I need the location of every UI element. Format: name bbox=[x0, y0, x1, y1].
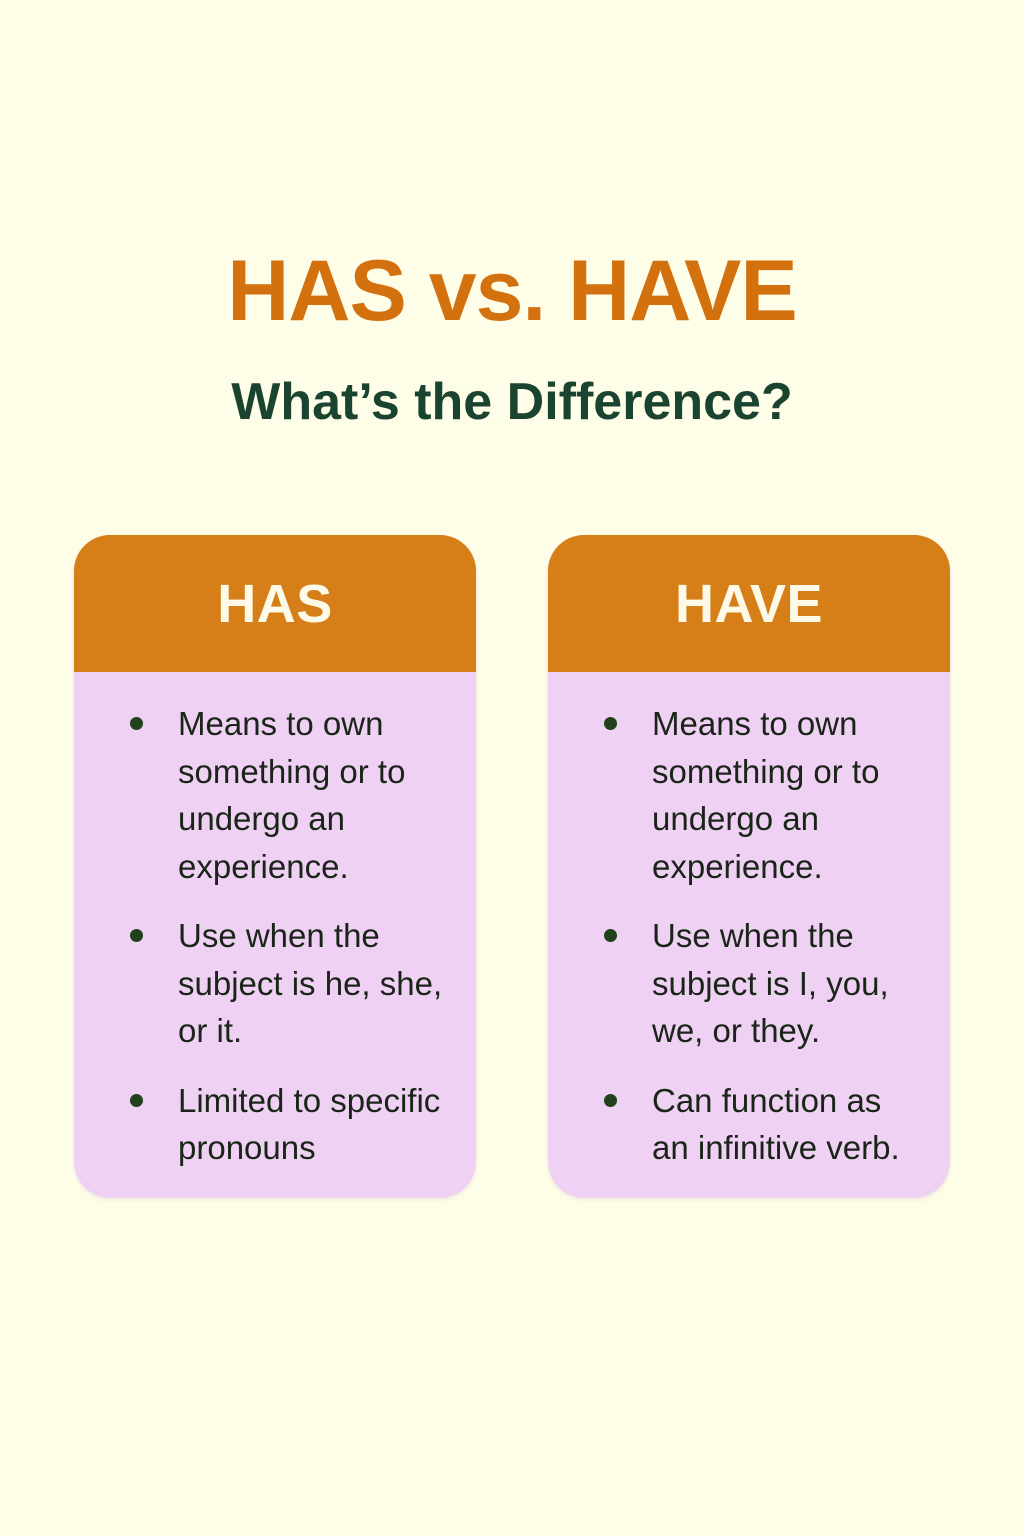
bullet-dot-icon bbox=[604, 717, 617, 730]
list-item: Use when the subject is he, she, or it. bbox=[120, 912, 446, 1055]
card-has: HAS Means to own something or to undergo… bbox=[74, 535, 476, 1198]
bullet-dot-icon bbox=[130, 929, 143, 942]
list-item: Means to own something or to undergo an … bbox=[594, 700, 920, 890]
list-item-text: Means to own something or to undergo an … bbox=[178, 705, 405, 885]
page-title: HAS vs. HAVE bbox=[0, 248, 1024, 334]
title-block: HAS vs. HAVE What’s the Difference? bbox=[0, 248, 1024, 428]
card-have-body: Means to own something or to undergo an … bbox=[548, 672, 950, 1198]
list-item-text: Limited to specific pronouns bbox=[178, 1082, 440, 1167]
comparison-cards: HAS Means to own something or to undergo… bbox=[74, 535, 950, 1198]
card-has-header: HAS bbox=[74, 535, 476, 672]
bullet-dot-icon bbox=[604, 929, 617, 942]
list-item: Means to own something or to undergo an … bbox=[120, 700, 446, 890]
bullet-dot-icon bbox=[130, 717, 143, 730]
list-item: Use when the subject is I, you, we, or t… bbox=[594, 912, 920, 1055]
card-has-body: Means to own something or to undergo an … bbox=[74, 672, 476, 1198]
list-item: Limited to specific pronouns bbox=[120, 1077, 446, 1172]
infographic-poster: HAS vs. HAVE What’s the Difference? HAS … bbox=[0, 0, 1024, 1536]
page-subtitle: What’s the Difference? bbox=[0, 376, 1024, 428]
list-item-text: Means to own something or to undergo an … bbox=[652, 705, 879, 885]
bullet-dot-icon bbox=[604, 1094, 617, 1107]
card-have-header: HAVE bbox=[548, 535, 950, 672]
list-item-text: Use when the subject is I, you, we, or t… bbox=[652, 917, 889, 1049]
list-item-text: Use when the subject is he, she, or it. bbox=[178, 917, 442, 1049]
card-have: HAVE Means to own something or to underg… bbox=[548, 535, 950, 1198]
card-has-bullet-list: Means to own something or to undergo an … bbox=[120, 700, 446, 1172]
card-have-bullet-list: Means to own something or to undergo an … bbox=[594, 700, 920, 1172]
card-have-title: HAVE bbox=[675, 577, 823, 631]
bullet-dot-icon bbox=[130, 1094, 143, 1107]
list-item-text: Can function as an infinitive verb. bbox=[652, 1082, 900, 1167]
list-item: Can function as an infinitive verb. bbox=[594, 1077, 920, 1172]
card-has-title: HAS bbox=[217, 577, 333, 631]
